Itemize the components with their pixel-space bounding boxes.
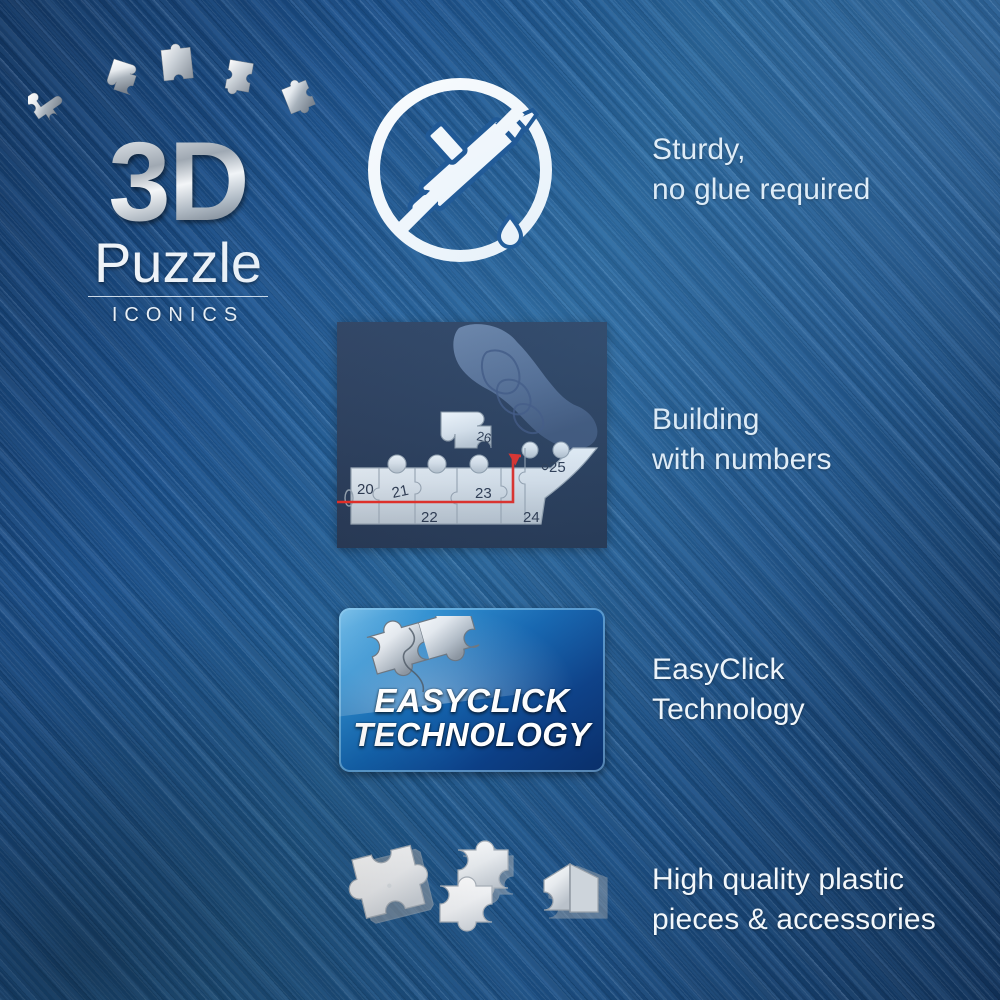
logo-iconics-text: ICONICS: [28, 304, 328, 327]
badge-line-2: TECHNOLOGY: [339, 716, 605, 754]
easyclick-text: EasyClick Technology: [652, 650, 805, 729]
piece-number-26: 26: [475, 428, 492, 446]
piece-number-23: 23: [475, 485, 492, 502]
puzzle-pieces-icon: [332, 828, 612, 948]
badge-line-1: EASYCLICK: [339, 682, 605, 720]
no-glue-icon: [360, 70, 560, 270]
piece-number-21: 21: [390, 482, 410, 502]
poster-canvas: 3D Puzzle ICONICS Sturdy, no glue requir…: [0, 0, 1000, 1000]
brand-logo: 3D Puzzle ICONICS: [28, 30, 328, 320]
feature-label-numbers: Building with numbers: [652, 398, 972, 482]
feature-label-pieces: High quality plastic pieces & accessorie…: [652, 858, 982, 942]
no-glue-text: Sturdy, no glue required: [652, 130, 870, 209]
piece-number-22: 22: [421, 509, 438, 526]
piece-number-20: 20: [357, 481, 374, 498]
piece-number-25: 25: [549, 459, 566, 476]
logo-3d-text: 3D: [28, 126, 328, 238]
logo-puzzle-text: Puzzle: [28, 235, 328, 291]
feature-label-easyclick: EasyClick Technology: [652, 648, 972, 732]
feature-label-no-glue: Sturdy, no glue required: [652, 128, 972, 212]
logo-divider: [88, 296, 268, 297]
numbers-text: Building with numbers: [652, 400, 832, 479]
easyclick-badge: EASYCLICK TECHNOLOGY: [339, 608, 605, 772]
piece-number-24: 24: [523, 509, 540, 526]
numbers-illustration: 26 20 21 22: [337, 322, 607, 548]
pieces-text: High quality plastic pieces & accessorie…: [652, 860, 936, 939]
